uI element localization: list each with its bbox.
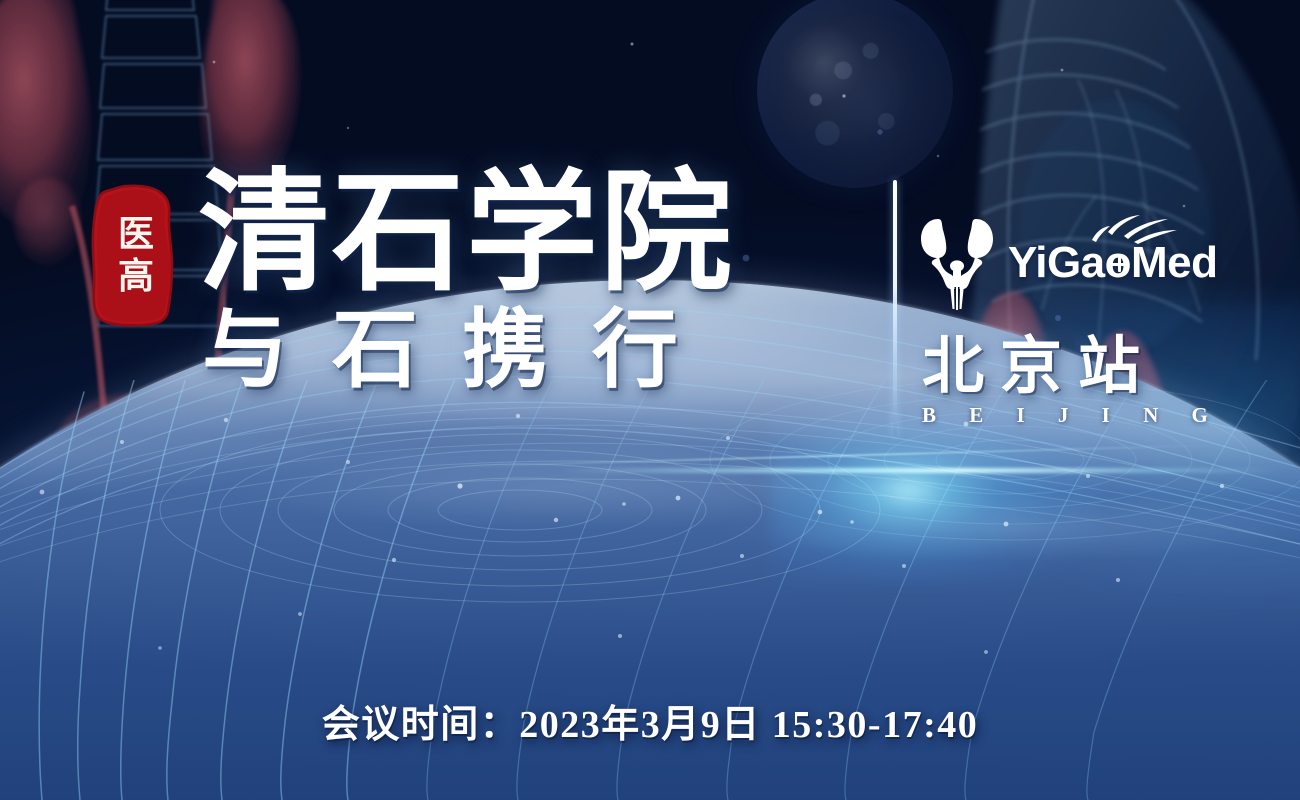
conference-poster: 医 高 清石学院 与石携行 (0, 0, 1300, 800)
medical-cross-icon (1111, 256, 1128, 273)
page-title: 清石学院 (198, 166, 878, 301)
page-subtitle: 与石携行 (198, 305, 878, 395)
kidney-urinary-tract-icon (920, 215, 994, 311)
seal-char-bottom: 高 (118, 258, 154, 294)
city-name-en: B E I J I N G (922, 405, 1220, 426)
brand-block: YiGaoMed 北京站 B E I J I N G (920, 208, 1220, 426)
meeting-time-text: 会议时间：2023年3月9日 15:30-17:40 (322, 706, 978, 744)
vertical-divider (893, 180, 897, 436)
seal-characters: 医 高 (84, 183, 188, 327)
brand-wordmark: YiGaoMed (1008, 241, 1218, 285)
date-bar: 会议时间：2023年3月9日 15:30-17:40 (0, 706, 1300, 744)
headline-block: 清石学院 与石携行 (198, 166, 878, 395)
medical-seal-stamp: 医 高 (84, 183, 188, 327)
city-block: 北京站 B E I J I N G (920, 336, 1220, 426)
city-name-cn: 北京站 (922, 336, 1220, 398)
swoosh-icon (1090, 214, 1178, 244)
poster-content: 医 高 清石学院 与石携行 (0, 0, 1300, 800)
brand-logo-row: YiGaoMed (920, 208, 1220, 318)
seal-char-top: 医 (118, 216, 154, 252)
